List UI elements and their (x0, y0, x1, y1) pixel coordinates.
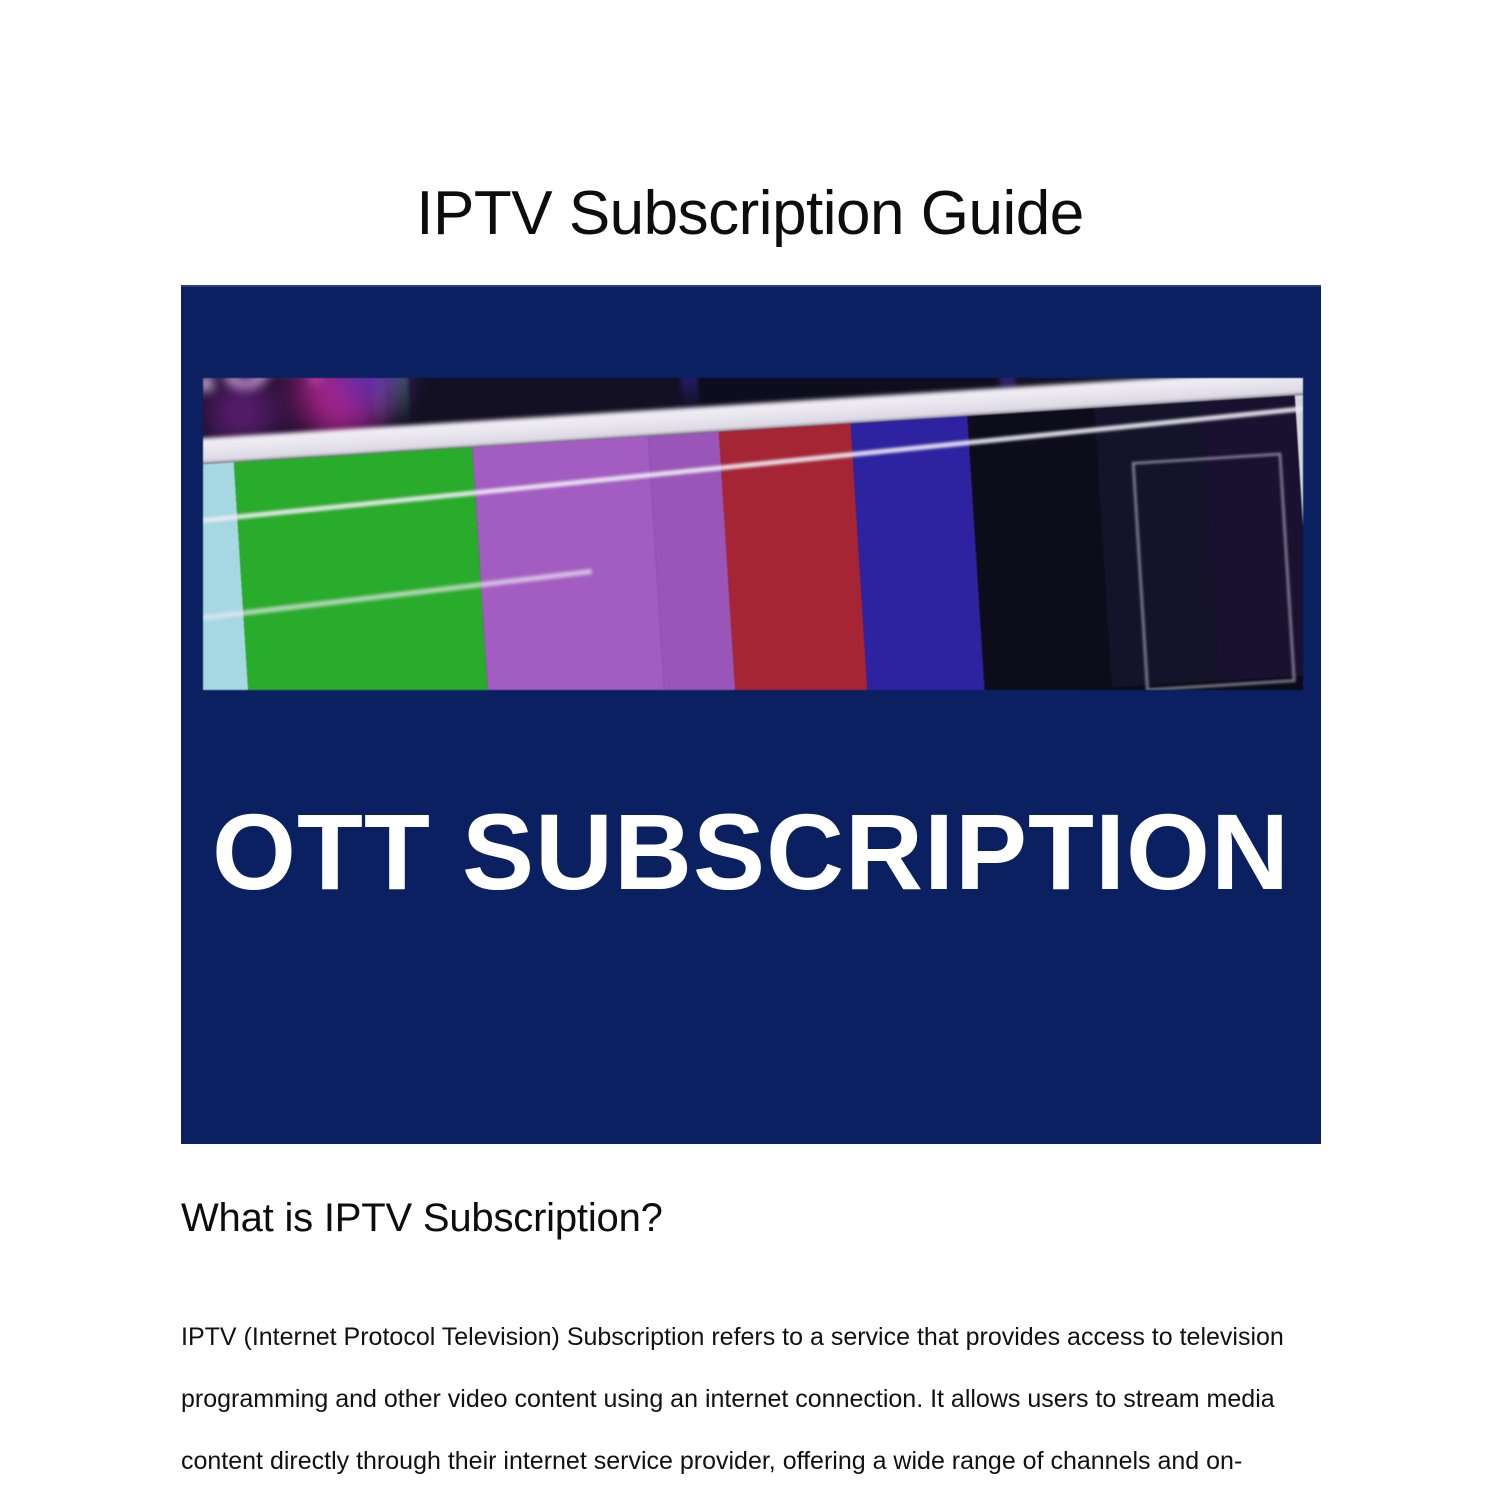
color-bar-blue (850, 416, 985, 690)
banner-headline: OTT SUBSCRIPTION (181, 798, 1321, 906)
page-title: IPTV Subscription Guide (0, 180, 1500, 248)
tv-outline-rectangle (1132, 452, 1296, 690)
document-page: IPTV Subscription Guide /59.94 BBCTX-1 1… (0, 0, 1500, 1500)
tv-test-pattern-photo: /59.94 BBCTX-1 1080i/59.94 BBCTX-2 1080i… (203, 378, 1303, 690)
color-bar-black (967, 408, 1111, 690)
tv-screen-plane: /59.94 BBCTX-1 1080i/59.94 BBCTX-2 1080i… (203, 378, 1303, 690)
tv-photo-inner: /59.94 BBCTX-1 1080i/59.94 BBCTX-2 1080i… (203, 378, 1303, 690)
hero-banner: /59.94 BBCTX-1 1080i/59.94 BBCTX-2 1080i… (181, 285, 1321, 1144)
body-paragraph: IPTV (Internet Protocol Television) Subs… (181, 1306, 1331, 1500)
banner-top-edge (181, 285, 1321, 287)
section-heading: What is IPTV Subscription? (181, 1196, 663, 1241)
color-bar-green (234, 447, 491, 690)
